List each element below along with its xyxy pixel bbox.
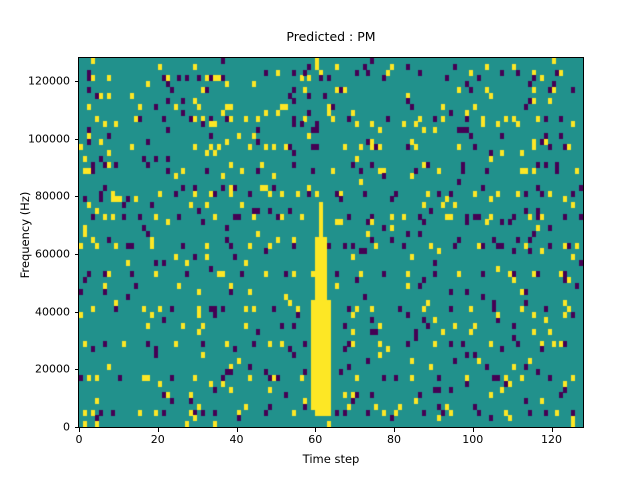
y-tick-mark — [75, 196, 79, 197]
y-tick-label: 40000 — [35, 305, 70, 318]
x-tick-mark — [79, 428, 80, 432]
x-tick-mark — [158, 428, 159, 432]
y-tick-label: 100000 — [28, 132, 70, 145]
y-axis-label: Frequency (Hz) — [18, 135, 32, 335]
x-tick-label: 60 — [308, 433, 322, 446]
x-axis-label: Time step — [78, 452, 584, 466]
x-tick-label: 40 — [230, 433, 244, 446]
y-tick-label: 60000 — [35, 248, 70, 261]
y-tick-label: 80000 — [35, 190, 70, 203]
y-tick-label: 0 — [63, 421, 70, 434]
y-tick-mark — [75, 427, 79, 428]
x-tick-label: 0 — [76, 433, 83, 446]
x-tick-mark — [473, 428, 474, 432]
y-tick-mark — [75, 81, 79, 82]
x-tick-label: 20 — [151, 433, 165, 446]
heatmap-canvas — [79, 58, 583, 427]
x-tick-label: 100 — [462, 433, 483, 446]
x-tick-mark — [394, 428, 395, 432]
x-tick-mark — [237, 428, 238, 432]
heatmap-plot-area — [78, 57, 584, 428]
x-tick-mark — [552, 428, 553, 432]
x-tick-label: 80 — [387, 433, 401, 446]
x-tick-label: 120 — [541, 433, 562, 446]
y-tick-label: 120000 — [28, 75, 70, 88]
page-title: Predicted : PM — [78, 29, 584, 45]
y-tick-mark — [75, 139, 79, 140]
y-tick-label: 20000 — [35, 363, 70, 376]
y-tick-mark — [75, 312, 79, 313]
matplotlib-figure: Predicted : PM 020406080100120 020000400… — [0, 0, 640, 480]
x-tick-mark — [315, 428, 316, 432]
y-tick-mark — [75, 254, 79, 255]
y-tick-mark — [75, 369, 79, 370]
